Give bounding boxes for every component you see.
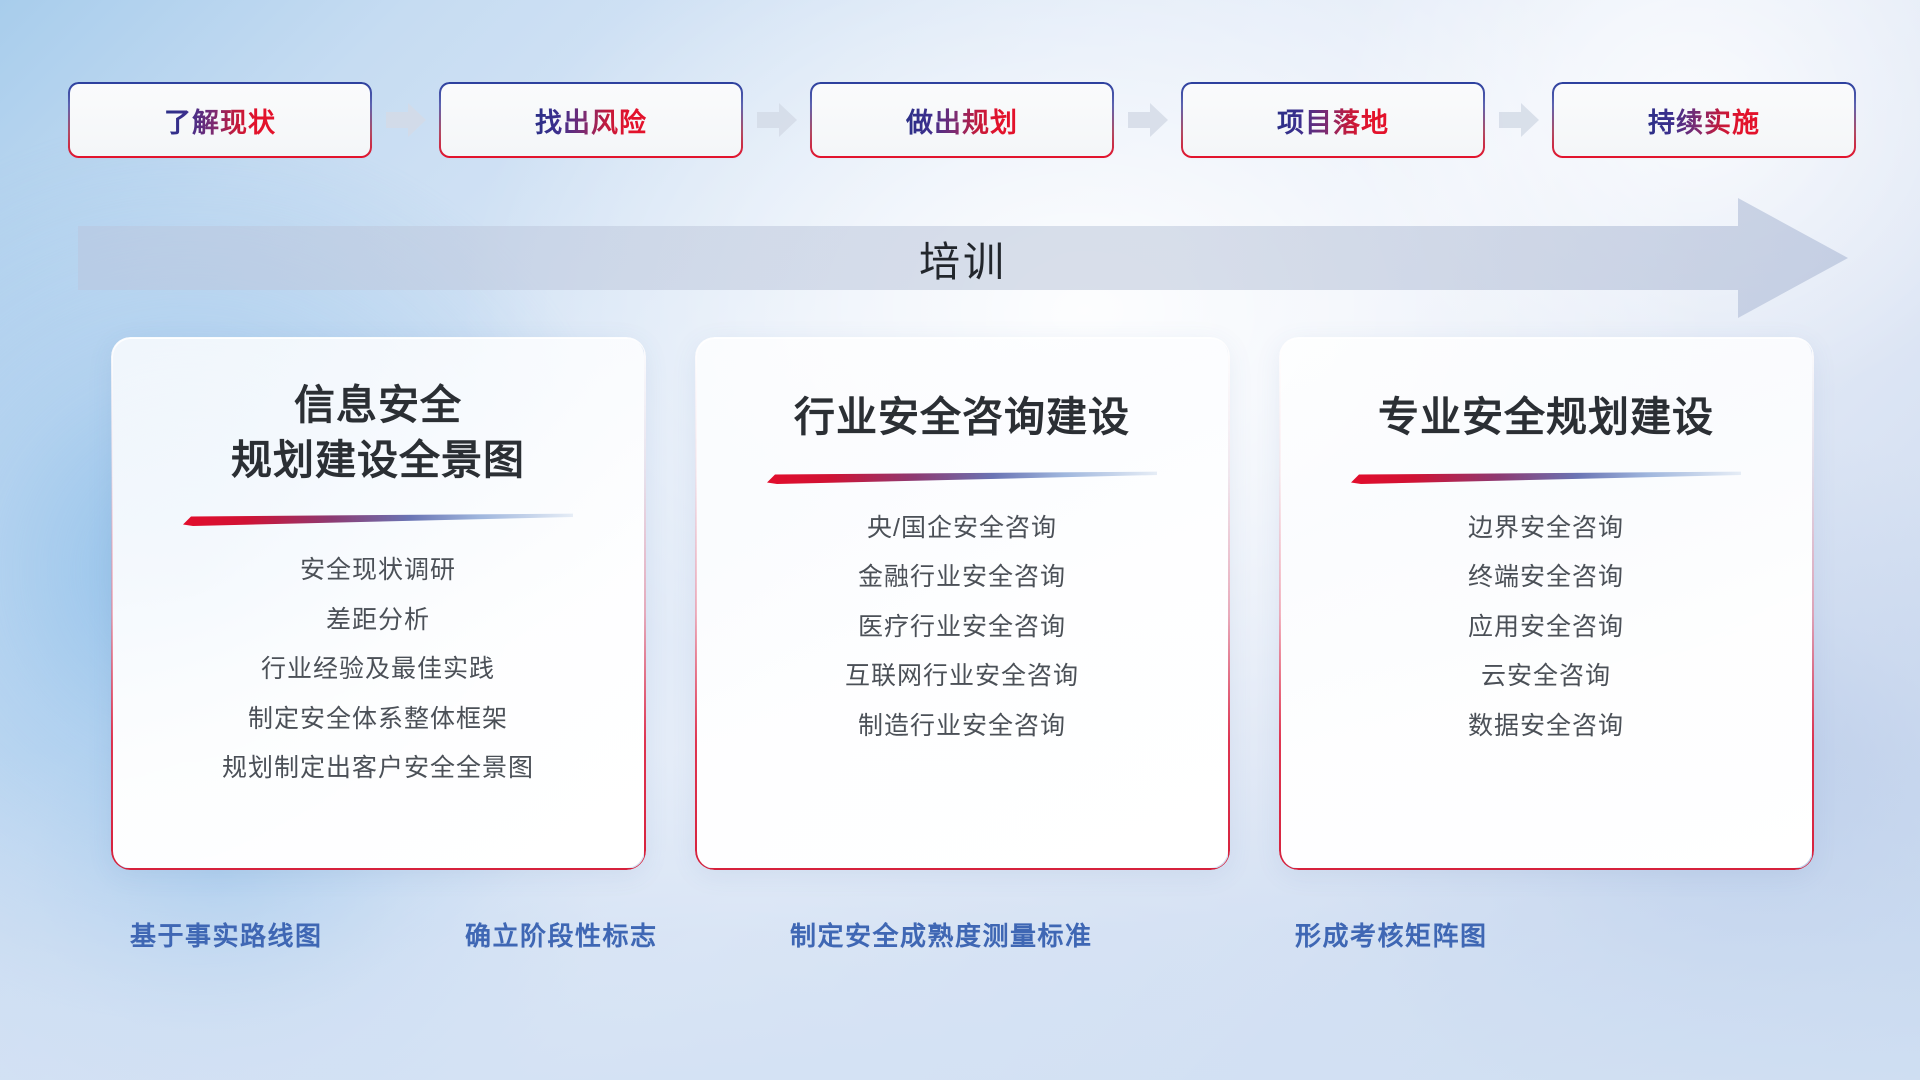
list-item: 医疗行业安全咨询 [858, 609, 1066, 647]
card-item-list: 央/国企安全咨询 金融行业安全咨询 医疗行业安全咨询 互联网行业安全咨询 制造行… [696, 510, 1228, 746]
chevron-right-arrow-icon [757, 103, 797, 137]
list-item: 央/国企安全咨询 [867, 510, 1057, 548]
list-item: 安全现状调研 [300, 552, 456, 590]
process-step-3[interactable]: 做出规划 [812, 84, 1112, 156]
card-title: 行业安全咨询建设 [794, 390, 1130, 445]
list-item: 行业经验及最佳实践 [261, 651, 495, 689]
card-item-list: 安全现状调研 差距分析 行业经验及最佳实践 制定安全体系整体框架 规划制定出客户… [112, 552, 644, 788]
process-step-row: 了解现状 找出风险 做出规划 项目落地 持续实施 [70, 78, 1854, 162]
card-professional-security-planning[interactable]: 专业安全规划建设 边界安全咨询 终端安全咨询 [1280, 338, 1812, 868]
list-item: 差距分析 [326, 602, 430, 640]
process-step-label: 找出风险 [535, 101, 647, 140]
card-industry-security-consulting[interactable]: 行业安全咨询建设 央/国企安全咨询 金融行业安全咨询 [696, 338, 1228, 868]
card-information-security-blueprint[interactable]: 信息安全 规划建设全景图 安全现状调研 差 [112, 338, 644, 868]
list-item: 制造行业安全咨询 [858, 708, 1066, 746]
process-step-label: 项目落地 [1277, 101, 1389, 140]
card-title: 专业安全规划建设 [1378, 390, 1714, 445]
list-item: 制定安全体系整体框架 [248, 701, 508, 739]
process-step-label: 了解现状 [164, 101, 276, 140]
chevron-right-arrow-icon [1128, 103, 1168, 137]
card-divider-icon [183, 513, 573, 526]
list-item: 终端安全咨询 [1468, 559, 1624, 597]
chevron-right-arrow-icon [386, 103, 426, 137]
process-step-1[interactable]: 了解现状 [70, 84, 370, 156]
footer-label-matrix: 形成考核矩阵图 [1295, 916, 1488, 953]
list-item: 边界安全咨询 [1468, 510, 1624, 548]
card-divider-icon [1351, 471, 1741, 484]
card-item-list: 边界安全咨询 终端安全咨询 应用安全咨询 云安全咨询 数据安全咨询 [1280, 510, 1812, 746]
list-item: 互联网行业安全咨询 [845, 658, 1079, 696]
list-item: 云安全咨询 [1481, 658, 1611, 696]
process-step-2[interactable]: 找出风险 [441, 84, 741, 156]
card-divider-icon [767, 471, 1157, 484]
chevron-right-arrow-icon [1499, 103, 1539, 137]
list-item: 应用安全咨询 [1468, 609, 1624, 647]
card-title-line: 信息安全 [231, 378, 525, 433]
card-title: 信息安全 规划建设全景图 [231, 378, 525, 487]
cards-row: 信息安全 规划建设全景图 安全现状调研 差 [112, 338, 1812, 868]
list-item: 金融行业安全咨询 [858, 559, 1066, 597]
list-item: 数据安全咨询 [1468, 708, 1624, 746]
card-title-line: 行业安全咨询建设 [794, 390, 1130, 445]
footer-label-roadmap: 基于事实路线图 [130, 916, 323, 953]
card-title-line: 专业安全规划建设 [1378, 390, 1714, 445]
process-step-label: 做出规划 [906, 101, 1018, 140]
training-banner-label-wrap: 培训 [0, 198, 1848, 318]
process-step-4[interactable]: 项目落地 [1183, 84, 1483, 156]
training-banner-label: 培训 [919, 228, 1007, 288]
process-step-label: 持续实施 [1648, 101, 1760, 140]
process-step-5[interactable]: 持续实施 [1554, 84, 1854, 156]
footer-label-milestones: 确立阶段性标志 [465, 916, 658, 953]
card-title-line: 规划建设全景图 [231, 433, 525, 488]
list-item: 规划制定出客户安全全景图 [222, 750, 534, 788]
footer-label-maturity: 制定安全成熟度测量标准 [790, 916, 1093, 953]
